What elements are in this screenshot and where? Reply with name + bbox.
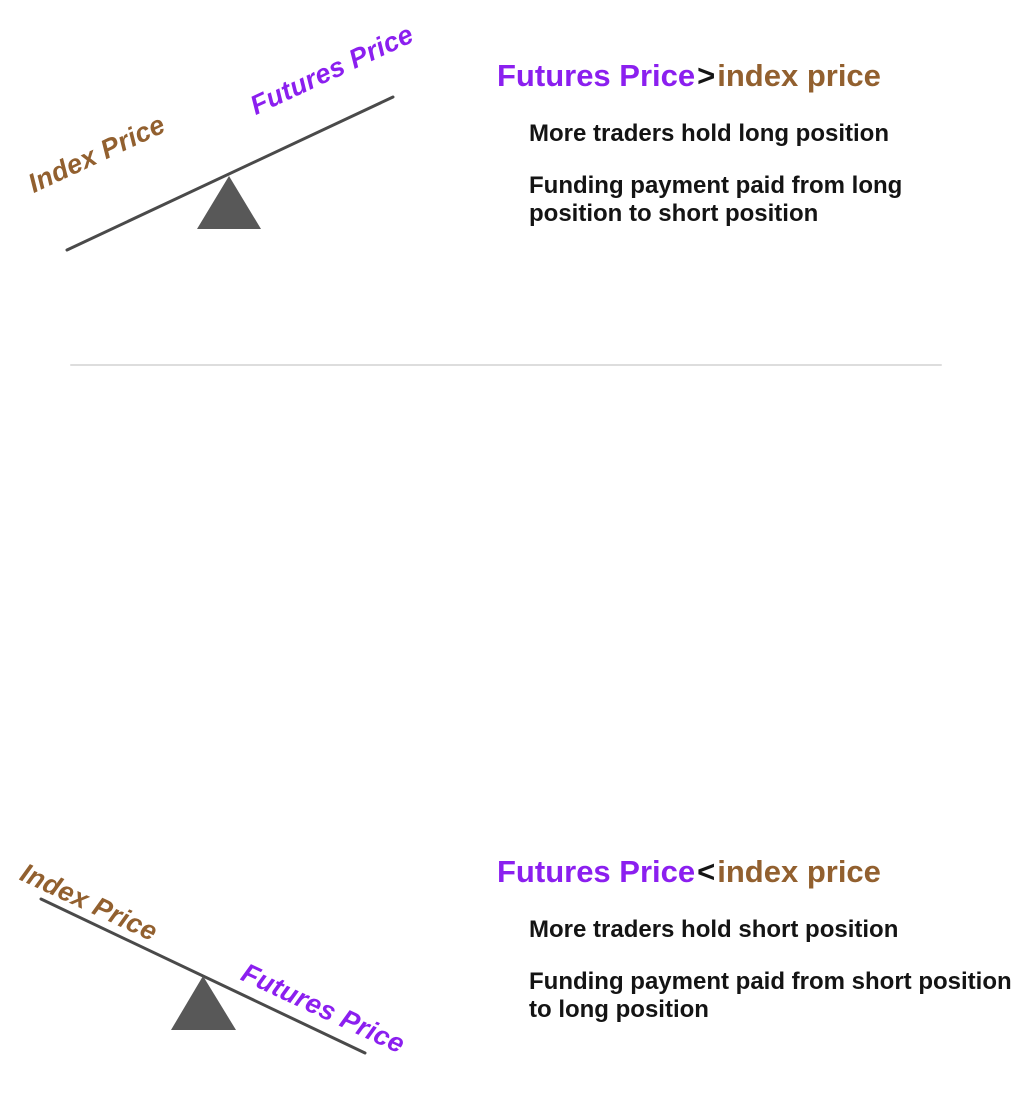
headline-futures-less-than-index: Futures Price<index price <box>497 854 1017 890</box>
bullet-item: Funding payment paid from short position… <box>529 968 1014 1024</box>
explanation-block-contango: Futures Price>index price More traders h… <box>497 58 1017 228</box>
headline-index-term: index price <box>717 854 881 889</box>
headline-futures-term: Futures Price <box>497 58 695 93</box>
bullet-item: More traders hold long position <box>529 120 999 148</box>
bullet-item: Funding payment paid from long position … <box>529 172 999 228</box>
bullet-item: More traders hold short position <box>529 916 1014 944</box>
panel-futures-below-index: Index Price Futures Price Futures Price<… <box>0 366 1024 730</box>
headline-index-term: index price <box>717 58 881 93</box>
headline-futures-greater-than-index: Futures Price>index price <box>497 58 1017 94</box>
headline-comparison-operator: > <box>695 58 717 93</box>
bullet-list-contango: More traders hold long position Funding … <box>529 120 1017 228</box>
headline-futures-term: Futures Price <box>497 854 695 889</box>
seesaw-fulcrum-triangle <box>171 976 236 1030</box>
diagram-canvas: Index Price Futures Price Futures Price>… <box>0 0 1024 730</box>
bullet-list-backwardation: More traders hold short position Funding… <box>529 916 1017 1024</box>
explanation-block-backwardation: Futures Price<index price More traders h… <box>497 854 1017 1024</box>
panel-futures-above-index: Index Price Futures Price Futures Price>… <box>0 0 1024 365</box>
headline-comparison-operator: < <box>695 854 717 889</box>
